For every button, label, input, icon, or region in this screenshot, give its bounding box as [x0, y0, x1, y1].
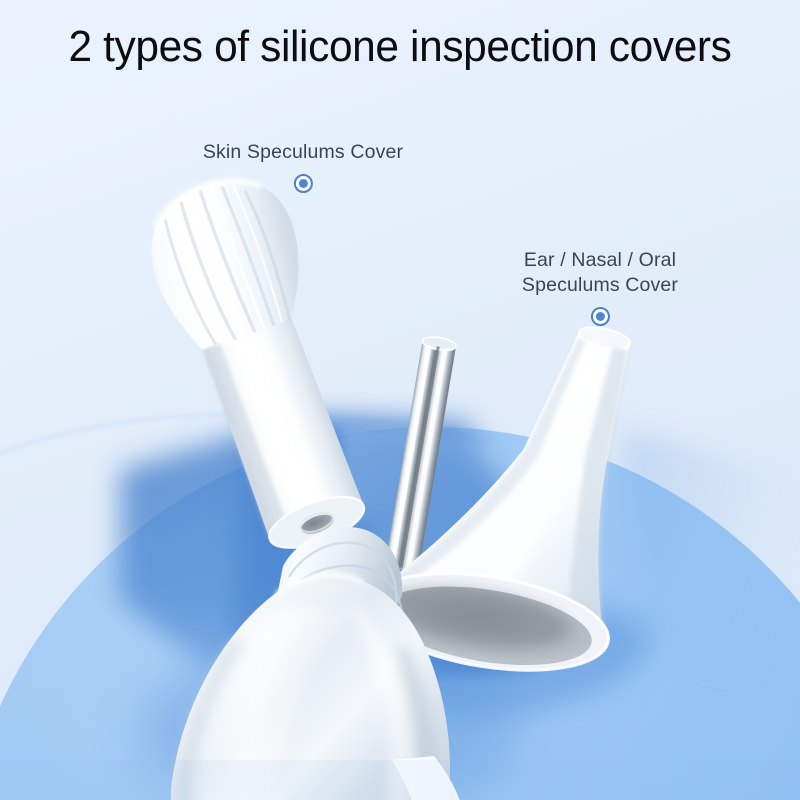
product-scene: [0, 0, 800, 800]
callout-ear-nasal-oral-speculums-cover: Ear / Nasal / Oral Speculums Cover: [522, 248, 678, 326]
callout-skin-line-1: Skin Speculums Cover: [203, 140, 403, 165]
product-image: 2 types of silicone inspection covers Sk…: [0, 0, 800, 800]
radio-dot-marker-icon: [591, 307, 610, 326]
callout-skin-speculums-cover: Skin Speculums Cover: [203, 140, 403, 193]
page-title: 2 types of silicone inspection covers: [14, 22, 786, 72]
radio-dot-marker-icon: [294, 174, 313, 193]
callout-ear-line-2: Speculums Cover: [522, 273, 678, 298]
callout-ear-line-1: Ear / Nasal / Oral: [522, 248, 678, 273]
